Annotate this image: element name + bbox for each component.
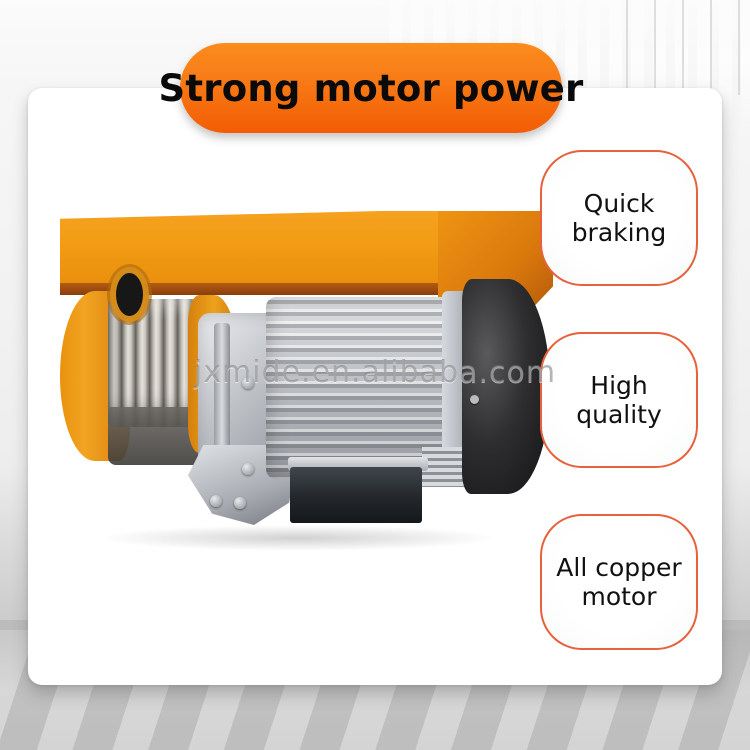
banner-title-text: Strong motor power xyxy=(159,70,584,107)
feature-badge-high-quality: High quality xyxy=(540,332,698,468)
feature-badge-label: Quick braking xyxy=(542,189,696,248)
feature-badge-list: Quick braking High quality All copper mo… xyxy=(540,150,698,696)
feature-badge-quick-braking: Quick braking xyxy=(540,150,698,286)
gearbox-bolt xyxy=(210,495,222,507)
feature-badge-label: High quality xyxy=(542,371,696,430)
product-image-electric-hoist xyxy=(38,195,558,555)
backdrop-louver-pattern-secondary xyxy=(600,0,750,95)
motor-end-cap-screw xyxy=(470,395,479,404)
gearbox-bolt xyxy=(242,377,254,389)
product-marketing-banner: jxmide.en.alibaba.com Strong motor power… xyxy=(0,0,750,750)
junction-box xyxy=(290,467,422,523)
feature-badge-label: All copper motor xyxy=(542,553,696,612)
motor-end-cap xyxy=(462,279,550,494)
hoist-mounting-hole xyxy=(116,273,143,316)
feature-badge-all-copper-motor: All copper motor xyxy=(540,514,698,650)
product-contact-shadow xyxy=(98,525,498,551)
gearbox-bolt xyxy=(234,497,246,509)
banner-title-pill: Strong motor power xyxy=(180,43,562,133)
gearbox-bolt xyxy=(242,463,254,475)
